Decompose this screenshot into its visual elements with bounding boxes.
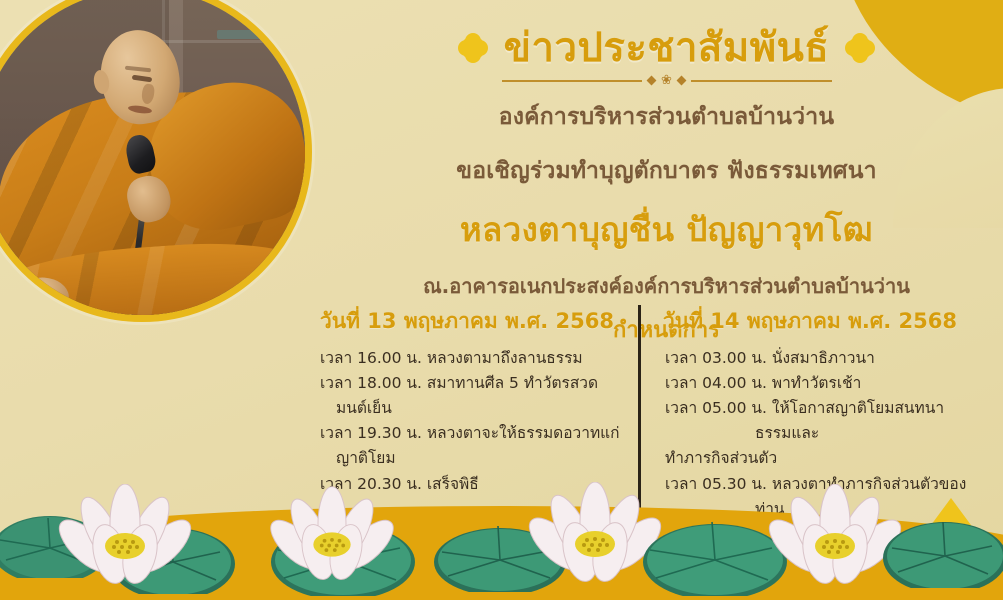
poster-header: ข่าวประชาสัมพันธ์ ❀ องค์การบริหารส่วนตำบ… [330, 0, 1003, 347]
title-row: ข่าวประชาสัมพันธ์ [330, 26, 1003, 70]
monk-name: หลวงตาบุญชื่น ปัญญาวุทโฒ [330, 203, 1003, 256]
schedule-item: เวลา 03.00 น. นั่งสมาธิภาวนา [665, 346, 976, 371]
monk-portrait-photo [0, 0, 312, 322]
schedule-item: เวลา 18.00 น. สมาทานศีล 5 ทำวัตรสวดมนต์เ… [320, 371, 624, 421]
portrait-image [0, 0, 312, 322]
quatrefoil-ornament-icon [458, 33, 488, 63]
lotus-flower-icon [262, 486, 402, 590]
schedule-item: เวลา 05.00 น. ให้โอกาสญาติโยมสนทนาธรรมแล… [665, 396, 976, 446]
organization-name: องค์การบริหารส่วนตำบลบ้านว่าน [330, 99, 1003, 135]
day1-heading: วันที่ 13 พฤษภาคม พ.ศ. 2568 [304, 305, 624, 338]
divider-swirl-icon: ❀ [661, 74, 672, 87]
schedule-item: เวลา 16.00 น. หลวงตามาถึงลานธรรม [320, 346, 624, 371]
lotus-flower-icon [50, 484, 200, 594]
day2-heading: วันที่ 14 พฤษภาคม พ.ศ. 2568 [663, 305, 976, 338]
schedule-item-continuation: ทำภารกิจส่วนตัว [665, 446, 976, 471]
divider-bar [691, 80, 832, 82]
divider-diamond-icon [677, 76, 687, 86]
page-title: ข่าวประชาสัมพันธ์ [504, 26, 830, 70]
divider-bar [502, 80, 643, 82]
backdrop-seam-horizontal [149, 40, 312, 43]
title-divider: ❀ [502, 74, 832, 87]
invitation-text: ขอเชิญร่วมทำบุญตักบาตร ฟังธรรมเทศนา [330, 153, 1003, 189]
lotus-leaf-icon [880, 502, 1003, 592]
schedule-item: เวลา 19.30 น. หลวงตาจะให้ธรรมดอวาทแก่ญาต… [320, 421, 624, 471]
event-poster: ข่าวประชาสัมพันธ์ ❀ องค์การบริหารส่วนตำบ… [0, 0, 1003, 600]
divider-diamond-icon [647, 76, 657, 86]
schedule-item: เวลา 04.00 น. พาทำวัตรเช้า [665, 371, 976, 396]
venue-text: ณ.อาคารอเนกประสงค์องค์การบริหารส่วนตำบลบ… [330, 270, 1003, 302]
quatrefoil-ornament-icon [845, 33, 875, 63]
backdrop-accent [217, 30, 292, 39]
